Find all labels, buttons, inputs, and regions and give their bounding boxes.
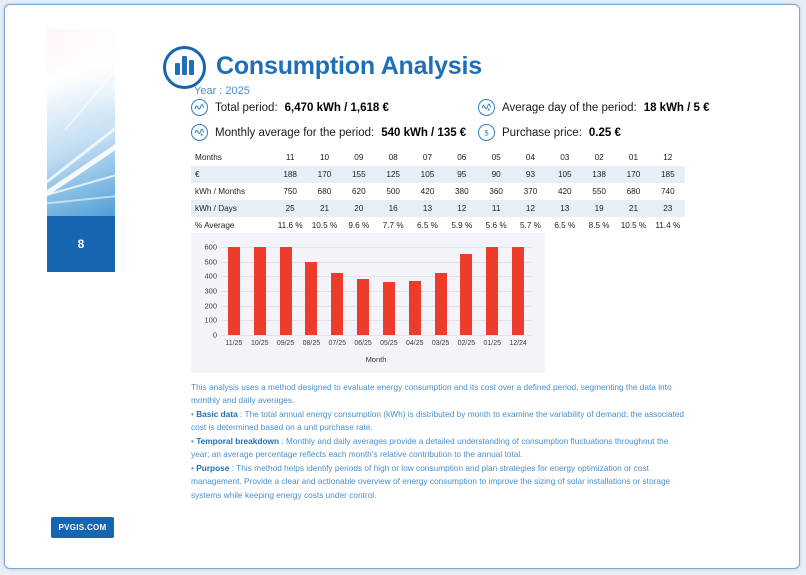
year-label: Year : 2025 — [194, 85, 250, 97]
description-intro: This analysis uses a method designed to … — [191, 381, 687, 408]
kpi-total-period: Total period: 6,470 kWh / 1,618 € — [191, 99, 389, 116]
table-row: % Average11.6 %10.5 %9.6 %7.7 %6.5 %5.9 … — [191, 217, 685, 234]
table-cell: 8.5 % — [582, 217, 616, 234]
table-cell: 02 — [582, 149, 616, 166]
chart-y-tick: 600 — [204, 243, 217, 252]
kpi-value: 6,470 kWh / 1,618 € — [285, 102, 389, 114]
table-cell: 7.7 % — [376, 217, 410, 234]
table-cell: 9.6 % — [342, 217, 376, 234]
chart-plot-area: 010020030040050060011/2510/2509/2508/250… — [221, 247, 531, 335]
chart-x-tick: 09/25 — [277, 340, 295, 347]
table-cell: 05 — [479, 149, 513, 166]
table-cell: 23 — [651, 200, 685, 217]
table-cell: 12 — [445, 200, 479, 217]
consumption-table: Months111009080706050403020112€188170155… — [191, 149, 685, 234]
table-cell: 188 — [273, 166, 307, 183]
chart-y-tick: 400 — [204, 272, 217, 281]
table-cell: 21 — [307, 200, 341, 217]
table-row: €188170155125105959093105138170185 — [191, 166, 685, 183]
kpi-label: Average day of the period: — [502, 102, 637, 114]
table-cell: 10.5 % — [616, 217, 650, 234]
table-cell: 10.5 % — [307, 217, 341, 234]
table-cell: 10 — [307, 149, 341, 166]
chart-gridline — [221, 276, 531, 277]
chart-bar — [254, 247, 266, 335]
chart-bar — [228, 247, 240, 335]
table-cell: 105 — [548, 166, 582, 183]
sine-wave-icon — [191, 99, 208, 116]
table-row-label: % Average — [191, 217, 273, 234]
chart-x-tick: 03/25 — [432, 340, 450, 347]
chart-bar — [409, 281, 421, 335]
table-cell: 6.5 % — [410, 217, 444, 234]
chart-bar — [460, 254, 472, 335]
chart-xaxis-title: Month — [221, 355, 531, 364]
kpi-value: 540 kWh / 135 € — [381, 127, 466, 139]
table-cell: 170 — [307, 166, 341, 183]
table-cell: 07 — [410, 149, 444, 166]
table-row-label: kWh / Days — [191, 200, 273, 217]
table-cell: 93 — [513, 166, 547, 183]
chart-y-tick: 300 — [204, 287, 217, 296]
bullet-term: Temporal breakdown — [196, 436, 279, 446]
description-bullet-0: • Basic data : The total annual energy c… — [191, 408, 687, 435]
page-title: Consumption Analysis — [216, 52, 482, 81]
chart-bar — [435, 273, 447, 335]
kpi-label: Purchase price: — [502, 127, 582, 139]
table-cell: 09 — [342, 149, 376, 166]
table-cell: 01 — [616, 149, 650, 166]
table-cell: 740 — [651, 183, 685, 200]
table-cell: 155 — [342, 166, 376, 183]
table-cell: 19 — [582, 200, 616, 217]
kpi-purchase-price: $ Purchase price: 0.25 € — [478, 124, 621, 141]
page-number-badge: 8 — [47, 216, 115, 272]
chart-bar — [305, 262, 317, 335]
chart-x-tick: 06/25 — [354, 340, 372, 347]
chart-gridline — [221, 262, 531, 263]
chart-x-tick: 11/25 — [225, 340, 242, 347]
bar-chart-icon — [163, 46, 206, 89]
bullet-term: Purpose — [196, 463, 229, 473]
table-cell: 420 — [548, 183, 582, 200]
table-cell: 16 — [376, 200, 410, 217]
table-cell: 125 — [376, 166, 410, 183]
description-bullet-1: • Temporal breakdown : Monthly and daily… — [191, 435, 687, 462]
table-row-label: € — [191, 166, 273, 183]
chart-x-tick: 10/25 — [251, 340, 269, 347]
chart-y-tick: 100 — [204, 316, 217, 325]
pvgis-logo[interactable]: PVGIS.COM — [51, 517, 114, 538]
sine-wave-icon — [478, 99, 495, 116]
chart-bar — [280, 247, 292, 335]
chart-bar — [357, 279, 369, 335]
consumption-bar-chart: 010020030040050060011/2510/2509/2508/250… — [191, 233, 545, 373]
chart-x-tick: 07/25 — [328, 340, 346, 347]
bullet-term: Basic data — [196, 409, 238, 419]
table-cell: 90 — [479, 166, 513, 183]
table-row: kWh / Months7506806205004203803603704205… — [191, 183, 685, 200]
table-cell: 12 — [651, 149, 685, 166]
sine-wave-icon — [191, 124, 208, 141]
table-cell: 500 — [376, 183, 410, 200]
table-cell: 550 — [582, 183, 616, 200]
table-row: Months111009080706050403020112 — [191, 149, 685, 166]
kpi-value: 18 kWh / 5 € — [644, 102, 710, 114]
chart-x-tick: 04/25 — [406, 340, 424, 347]
table-cell: 03 — [548, 149, 582, 166]
chart-bar — [512, 247, 524, 335]
bullet-text: : The total annual energy consumption (k… — [191, 409, 684, 432]
table-cell: 20 — [342, 200, 376, 217]
table-cell: 13 — [410, 200, 444, 217]
table-cell: 12 — [513, 200, 547, 217]
dollar-sign-icon: $ — [478, 124, 495, 141]
svg-text:$: $ — [484, 128, 488, 138]
table-cell: 11 — [273, 149, 307, 166]
table-cell: 680 — [616, 183, 650, 200]
kpi-value: 0.25 € — [589, 127, 621, 139]
chart-x-tick: 12/24 — [509, 340, 527, 347]
table-cell: 5.7 % — [513, 217, 547, 234]
table-cell: 25 — [273, 200, 307, 217]
table-cell: 11.4 % — [651, 217, 685, 234]
table-cell: 105 — [410, 166, 444, 183]
table-cell: 185 — [651, 166, 685, 183]
table-cell: 750 — [273, 183, 307, 200]
table-cell: 360 — [479, 183, 513, 200]
chart-gridline — [221, 247, 531, 248]
table-cell: 08 — [376, 149, 410, 166]
table-cell: 370 — [513, 183, 547, 200]
chart-x-tick: 01/25 — [483, 340, 501, 347]
table-cell: 380 — [445, 183, 479, 200]
left-rail: 8 — [47, 29, 115, 272]
chart-y-tick: 0 — [213, 331, 217, 340]
table-cell: 06 — [445, 149, 479, 166]
table-cell: 420 — [410, 183, 444, 200]
table-cell: 6.5 % — [548, 217, 582, 234]
table-row: kWh / Days252120161312111213192123 — [191, 200, 685, 217]
kpi-label: Total period: — [215, 102, 278, 114]
table-cell: 620 — [342, 183, 376, 200]
chart-gridline — [221, 335, 531, 336]
table-cell: 5.6 % — [479, 217, 513, 234]
chart-bar — [383, 282, 395, 335]
description-block: This analysis uses a method designed to … — [191, 381, 687, 502]
bullet-text: : This method helps identify periods of … — [191, 463, 670, 500]
description-bullet-2: • Purpose : This method helps identify p… — [191, 462, 687, 502]
chart-y-tick: 200 — [204, 301, 217, 310]
chart-x-tick: 05/25 — [380, 340, 398, 347]
table-cell: 11 — [479, 200, 513, 217]
chart-gridline — [221, 306, 531, 307]
kpi-monthly-average: Monthly average for the period: 540 kWh … — [191, 124, 466, 141]
chart-gridline — [221, 320, 531, 321]
report-page: 8 Consumption Analysis Year : 2025 Total… — [4, 4, 800, 569]
table-row-label: Months — [191, 149, 273, 166]
kpi-label: Monthly average for the period: — [215, 127, 374, 139]
kpi-average-day: Average day of the period: 18 kWh / 5 € — [478, 99, 710, 116]
table: Months111009080706050403020112€188170155… — [191, 149, 685, 234]
chart-bar — [331, 273, 343, 335]
table-cell: 170 — [616, 166, 650, 183]
table-cell: 13 — [548, 200, 582, 217]
table-cell: 680 — [307, 183, 341, 200]
table-cell: 11.6 % — [273, 217, 307, 234]
table-cell: 04 — [513, 149, 547, 166]
table-cell: 138 — [582, 166, 616, 183]
chart-bar — [486, 247, 498, 335]
table-cell: 95 — [445, 166, 479, 183]
table-row-label: kWh / Months — [191, 183, 273, 200]
table-cell: 5.9 % — [445, 217, 479, 234]
chart-y-tick: 500 — [204, 257, 217, 266]
chart-x-tick: 08/25 — [303, 340, 321, 347]
decorative-solar-image — [47, 29, 115, 216]
table-cell: 21 — [616, 200, 650, 217]
chart-gridline — [221, 291, 531, 292]
chart-x-tick: 02/25 — [458, 340, 476, 347]
